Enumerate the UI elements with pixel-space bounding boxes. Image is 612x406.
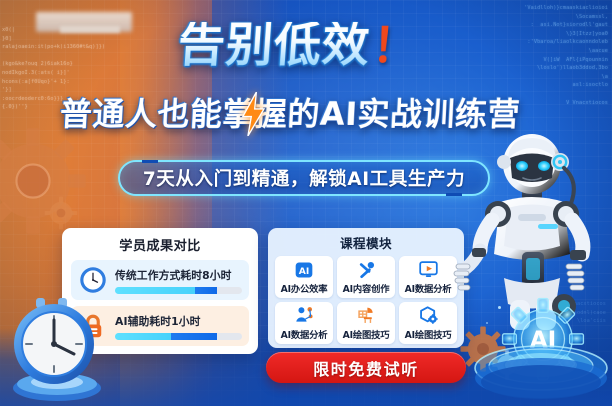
progress-segment-cyan (115, 333, 171, 340)
stat-body: 传统工作方式耗时8小时 (115, 267, 242, 294)
progress-segment-blue (195, 287, 217, 294)
free-trial-button[interactable]: 限时免费试听 (266, 352, 466, 383)
stat-body: AI辅助耗时1小时 (115, 313, 242, 340)
module-tile[interactable]: AI绘图技巧 (399, 302, 457, 344)
subtitle-text: 7天从入门到精通，解锁AI工具生产力 (143, 165, 465, 191)
progress-segment-blue (171, 333, 217, 340)
person-network-icon (294, 305, 315, 326)
censor-bar-secondary (60, 26, 120, 33)
progress-bar (115, 287, 242, 294)
stat-label: 传统工作方式耗时8小时 (115, 267, 242, 283)
module-label: AI办公效率 (281, 281, 328, 295)
course-modules-card: 课程模块 AI AI办公效率 (268, 228, 464, 348)
stat-label: AI辅助耗时1小时 (115, 313, 242, 329)
module-tile[interactable]: AI绘图技巧 (337, 302, 395, 344)
pill-notch (142, 160, 158, 163)
tech-platform (470, 338, 612, 400)
svg-text:AI: AI (299, 265, 310, 276)
module-tile[interactable]: AI内容创作 (337, 256, 395, 298)
chart-desk-icon (356, 305, 377, 326)
module-tile[interactable]: AI数据分析 (275, 302, 333, 344)
module-label: AI绘图技巧 (343, 327, 390, 341)
hexagon-gear-icon (418, 305, 439, 326)
promo-banner: x0(| }0] ralajoaein:it(po+k)i1360#t&q)]}… (0, 0, 612, 406)
module-label: AI数据分析 (405, 281, 452, 295)
monitor-play-icon (418, 259, 439, 280)
module-tile[interactable]: AI AI办公效率 (275, 256, 333, 298)
progress-bar (115, 333, 242, 340)
stopwatch-icon (2, 292, 106, 404)
modules-grid: AI AI办公效率 AI内容创作 (275, 256, 457, 344)
progress-segment-cyan (115, 287, 195, 294)
module-label: AI绘图技巧 (405, 327, 452, 341)
clock-icon (78, 265, 108, 295)
microphone-pen-icon (356, 259, 377, 280)
module-tile[interactable]: AI数据分析 (399, 256, 457, 298)
module-label: AI内容创作 (343, 281, 390, 295)
subtitle-pill: 7天从入门到精通，解锁AI工具生产力 (118, 160, 490, 196)
modules-card-title: 课程模块 (275, 233, 457, 252)
results-card-title: 学员成果对比 (71, 235, 249, 254)
module-label: AI数据分析 (281, 327, 328, 341)
ai-badge-icon: AI (294, 259, 314, 280)
